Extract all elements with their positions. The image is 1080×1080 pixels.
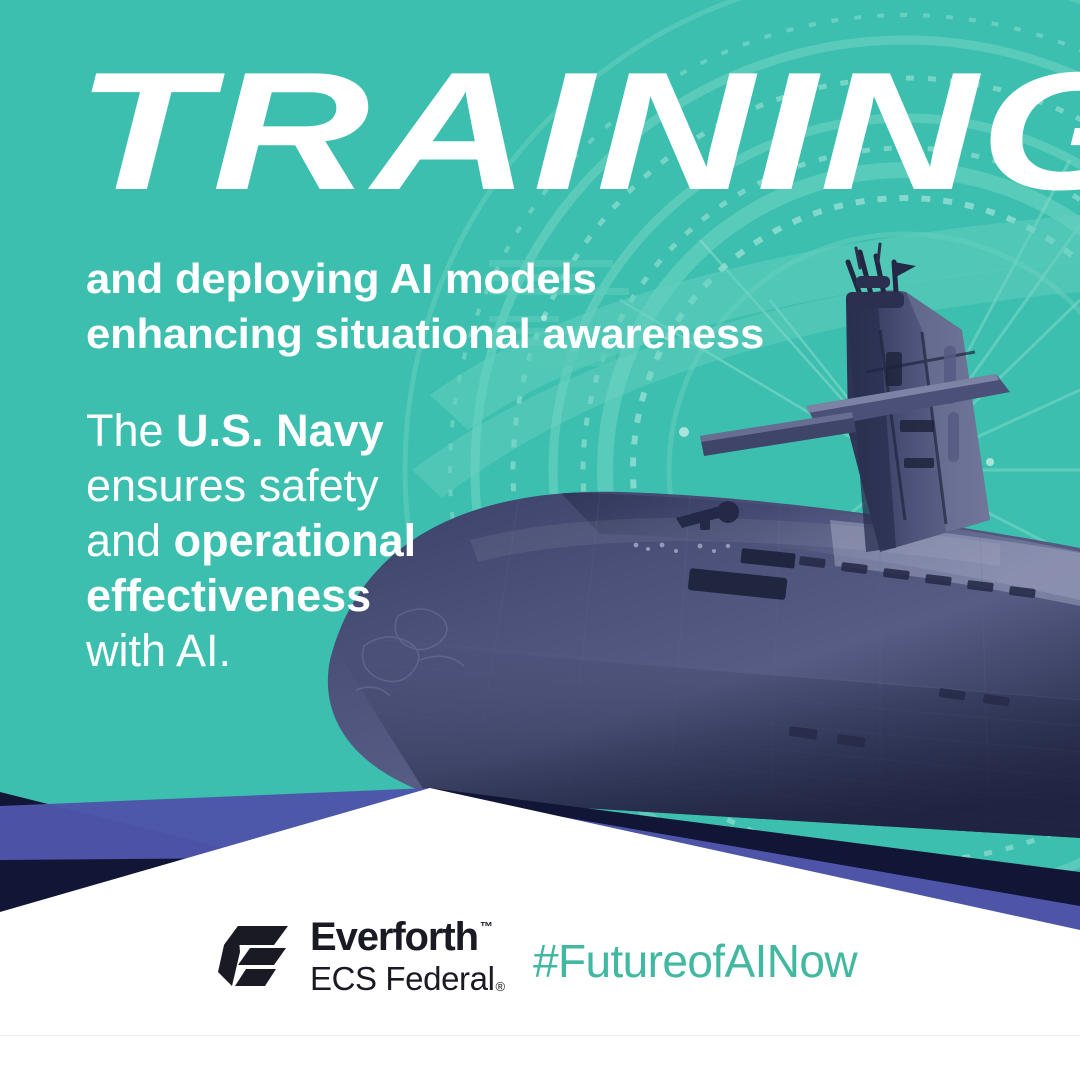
subheadline-line-1: and deploying AI models bbox=[86, 252, 1001, 307]
body-line-5: with AI. bbox=[86, 624, 486, 679]
trademark-symbol: ™ bbox=[480, 920, 492, 933]
body-line-3-plain: and bbox=[86, 515, 174, 566]
body-line-2: ensures safety bbox=[86, 459, 486, 514]
body-line-1: The U.S. Navy bbox=[86, 404, 486, 459]
social-graphic-canvas: TRAINING and deploying AI models enhanci… bbox=[0, 0, 1080, 1080]
subheadline: and deploying AI models enhancing situat… bbox=[86, 252, 1001, 361]
everforth-f-mark-icon bbox=[216, 924, 290, 988]
body-line-3: and operational bbox=[86, 514, 486, 569]
campaign-hashtag[interactable]: #FutureofAINow bbox=[533, 934, 857, 988]
body-line-4-bold: effectiveness bbox=[86, 570, 371, 621]
page-title: TRAINING bbox=[76, 54, 1080, 209]
brand-wordmark: Everforth ™ ECS Federal ® bbox=[310, 917, 505, 995]
logo-primary-text: Everforth bbox=[310, 917, 478, 957]
body-copy: The U.S. Navy ensures safety and operati… bbox=[86, 404, 486, 678]
logo-secondary-text: ECS Federal bbox=[310, 962, 495, 995]
brand-logo-lockup[interactable]: Everforth ™ ECS Federal ® bbox=[216, 917, 505, 995]
body-line-1-bold: U.S. Navy bbox=[176, 405, 384, 456]
registered-symbol: ® bbox=[496, 980, 505, 993]
body-line-4: effectiveness bbox=[86, 569, 486, 624]
bottom-divider bbox=[0, 1035, 1080, 1036]
logo-secondary-name: ECS Federal ® bbox=[310, 962, 505, 995]
logo-primary-name: Everforth ™ bbox=[310, 917, 505, 957]
body-line-1-plain: The bbox=[86, 405, 176, 456]
body-line-3-bold: operational bbox=[174, 515, 417, 566]
subheadline-line-2: enhancing situational awareness bbox=[86, 307, 1001, 362]
